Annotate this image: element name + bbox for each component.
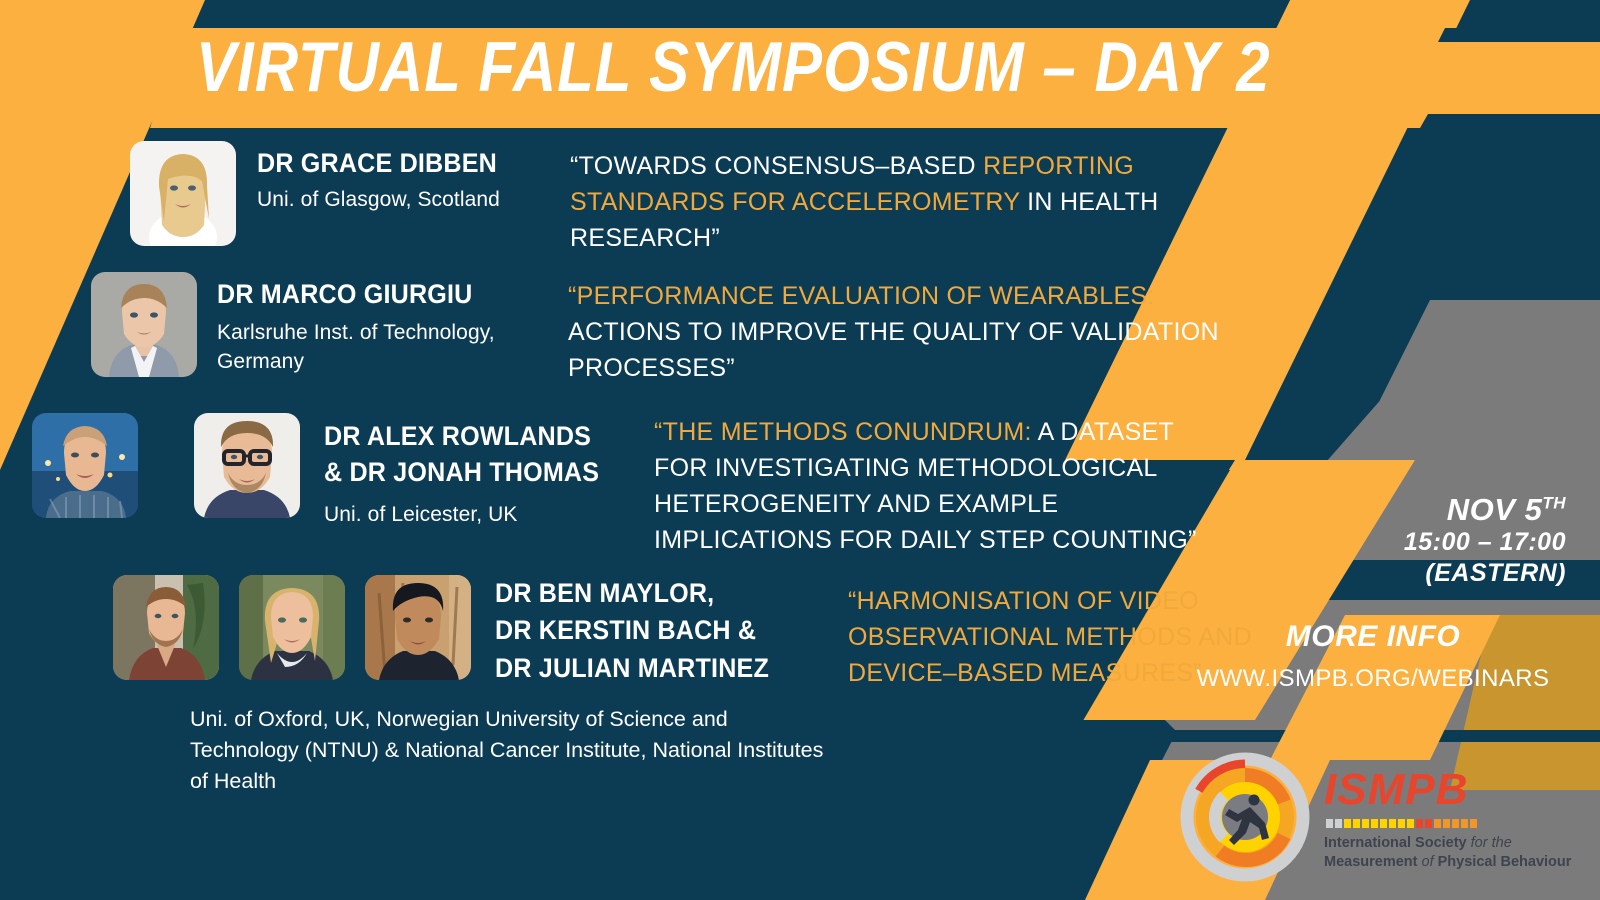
speaker-row-2: DR MARCO GIURGIU Karlsruhe Inst. of Tech… bbox=[91, 272, 1240, 386]
speaker-name-3-line1: DR ALEX ROWLANDS bbox=[324, 420, 622, 452]
julian-martinez-headshot bbox=[365, 575, 471, 680]
logo-acronym: ISMPB bbox=[1324, 768, 1571, 812]
event-date-block: NOV 5TH 15:00 – 17:00 (EASTERN) bbox=[1236, 494, 1566, 589]
speaker-row-4: DR BEN MAYLOR, DR KERSTIN BACH & DR JULI… bbox=[113, 575, 1258, 691]
speaker-affiliation-3: Uni. of Leicester, UK bbox=[324, 501, 644, 529]
talk-title-2: “PERFORMANCE EVALUATION OF WEARABLES: AC… bbox=[568, 272, 1240, 386]
speaker-name-4-line3: DR JULIAN MARTINEZ bbox=[495, 652, 802, 684]
title-banner-notch-right bbox=[1438, 28, 1600, 42]
talk-seg: “TOWARDS CONSENSUS–BASED bbox=[570, 152, 983, 180]
poster-canvas: VIRTUAL FALL SYMPOSIUM – DAY 2 DR GRACE … bbox=[0, 0, 1600, 900]
event-date: NOV 5TH bbox=[1236, 494, 1566, 527]
title-banner-notch-bottom bbox=[1420, 114, 1600, 128]
speaker-info-2: DR MARCO GIURGIU Karlsruhe Inst. of Tech… bbox=[217, 272, 555, 376]
speaker-row-3: DR ALEX ROWLANDS & DR JONAH THOMAS Uni. … bbox=[32, 413, 1214, 558]
talk-title-3: “THE METHODS CONUNDRUM: A DATASET FOR IN… bbox=[654, 413, 1214, 558]
talk-seg: ACTIONS TO IMPROVE THE QUALITY OF VALIDA… bbox=[568, 318, 1219, 382]
logo-tagline-d: of bbox=[1417, 854, 1437, 870]
speaker-affiliation-1: Uni. of Glasgow, Scotland bbox=[257, 186, 557, 214]
marco-giurgiu-headshot bbox=[91, 272, 197, 377]
logo-tagline-a: International Society bbox=[1324, 835, 1467, 851]
jonah-thomas-headshot bbox=[194, 413, 300, 518]
logo-tagline-b: for the bbox=[1467, 835, 1512, 851]
speaker-photos-3 bbox=[32, 413, 300, 518]
kerstin-bach-headshot bbox=[239, 575, 345, 680]
talk-seg-highlight: “THE METHODS CONUNDRUM: bbox=[654, 418, 1032, 446]
speaker-name-4-line1: DR BEN MAYLOR, bbox=[495, 577, 802, 609]
speaker-row-1: DR GRACE DIBBEN Uni. of Glasgow, Scotlan… bbox=[130, 141, 1278, 256]
running-person-icon bbox=[1180, 752, 1310, 882]
speaker-info-1: DR GRACE DIBBEN Uni. of Glasgow, Scotlan… bbox=[257, 141, 557, 215]
talk-title-1: “TOWARDS CONSENSUS–BASED REPORTING STAND… bbox=[570, 141, 1278, 256]
speaker-name-4-line2: DR KERSTIN BACH & bbox=[495, 614, 802, 646]
logo-tagline: International Society for the Measuremen… bbox=[1324, 834, 1571, 871]
more-info-block: MORE INFO WWW.ISMPB.ORG/WEBINARS bbox=[1176, 620, 1570, 693]
speaker-name-1: DR GRACE DIBBEN bbox=[257, 147, 536, 179]
speaker-info-4: DR BEN MAYLOR, DR KERSTIN BACH & DR JULI… bbox=[495, 575, 825, 684]
alex-rowlands-headshot bbox=[32, 413, 138, 518]
event-date-text: NOV 5 bbox=[1447, 492, 1543, 527]
speaker-photos-4 bbox=[113, 575, 471, 680]
speaker-photos-2 bbox=[91, 272, 197, 377]
ben-maylor-headshot bbox=[113, 575, 219, 680]
speaker-name-3-line2: & DR JONAH THOMAS bbox=[324, 456, 622, 488]
ismpb-logo: ISMPB International Society for the Meas… bbox=[1180, 752, 1571, 882]
speaker-name-2: DR MARCO GIURGIU bbox=[217, 278, 531, 310]
event-timezone: (EASTERN) bbox=[1236, 558, 1566, 589]
event-date-suffix: TH bbox=[1542, 494, 1566, 513]
page-title: VIRTUAL FALL SYMPOSIUM – DAY 2 bbox=[196, 26, 1271, 107]
speaker-info-3: DR ALEX ROWLANDS & DR JONAH THOMAS Uni. … bbox=[324, 413, 644, 529]
group-affiliation: Uni. of Oxford, UK, Norwegian University… bbox=[190, 704, 830, 798]
event-time: 15:00 – 17:00 bbox=[1236, 527, 1566, 558]
more-info-url[interactable]: WWW.ISMPB.ORG/WEBINARS bbox=[1176, 665, 1570, 693]
more-info-label: MORE INFO bbox=[1176, 620, 1570, 654]
grace-dibben-headshot bbox=[130, 141, 236, 246]
logo-dot-bar bbox=[1326, 819, 1571, 828]
speaker-affiliation-2: Karlsruhe Inst. of Technology, Germany bbox=[217, 319, 555, 375]
logo-tagline-e: Physical Behaviour bbox=[1438, 854, 1572, 870]
logo-tagline-c: Measurement bbox=[1324, 854, 1417, 870]
speaker-photos-1 bbox=[130, 141, 236, 246]
logo-text-block: ISMPB International Society for the Meas… bbox=[1324, 762, 1571, 871]
talk-seg-highlight: “PERFORMANCE EVALUATION OF WEARABLES: bbox=[568, 282, 1155, 310]
